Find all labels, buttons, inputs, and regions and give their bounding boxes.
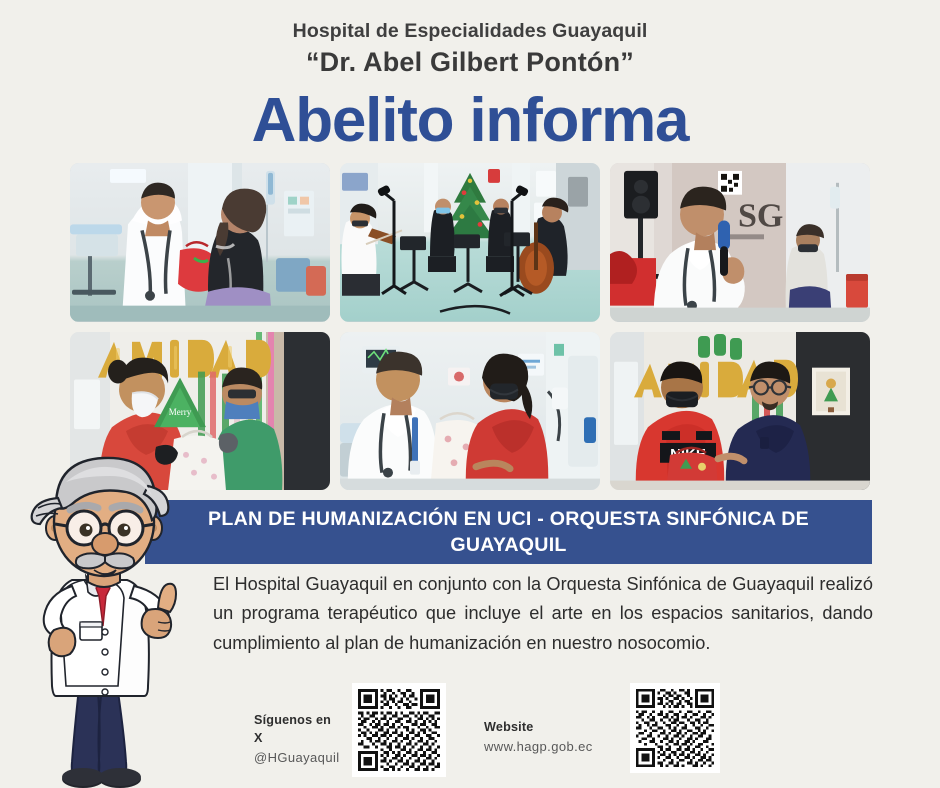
photo-doctor-microphone-osg-banner: SG: [610, 163, 870, 322]
poster-header: Hospital de Especialidades Guayaquil “Dr…: [0, 0, 940, 154]
qr-code-x[interactable]: [352, 683, 446, 777]
page-title: Abelito informa: [0, 88, 940, 153]
photo-patient-nurse-navidad: NIKE: [610, 332, 870, 491]
svg-text:SG: SG: [738, 198, 783, 235]
banner-title: PLAN DE HUMANIZACIÓN EN UCI - ORQUESTA S…: [145, 506, 872, 559]
abelito-doctor-mascot: [8, 440, 213, 788]
qr-code-website[interactable]: [630, 683, 720, 773]
hospital-name-line1: Hospital de Especialidades Guayaquil: [0, 18, 940, 44]
website-labels: Website www.hagp.gob.ec: [484, 696, 596, 757]
social-x-title: Síguenos en X: [254, 711, 340, 749]
photo-doctor-woman-red-gift: [340, 332, 600, 491]
hospital-name-line2: “Dr. Abel Gilbert Pontón”: [0, 45, 940, 80]
social-x-labels: Síguenos en X @HGuayaquil: [254, 689, 340, 769]
body-paragraph: El Hospital Guayaquil en conjunto con la…: [213, 570, 873, 658]
section-banner: PLAN DE HUMANIZACIÓN EN UCI - ORQUESTA S…: [145, 500, 872, 564]
photo-orchestra-hospital-corridor: [340, 163, 600, 322]
social-x-block: Síguenos en X @HGuayaquil: [254, 680, 446, 777]
website-url: www.hagp.gob.ec: [484, 737, 596, 757]
svg-text:Merry: Merry: [169, 407, 192, 417]
poster-canvas: Hospital de Especialidades Guayaquil “Dr…: [0, 0, 940, 788]
photo-doctor-gift-patient: [70, 163, 330, 322]
social-x-handle: @HGuayaquil: [254, 748, 340, 768]
website-title: Website: [484, 718, 596, 737]
website-block: Website www.hagp.gob.ec: [484, 680, 720, 773]
